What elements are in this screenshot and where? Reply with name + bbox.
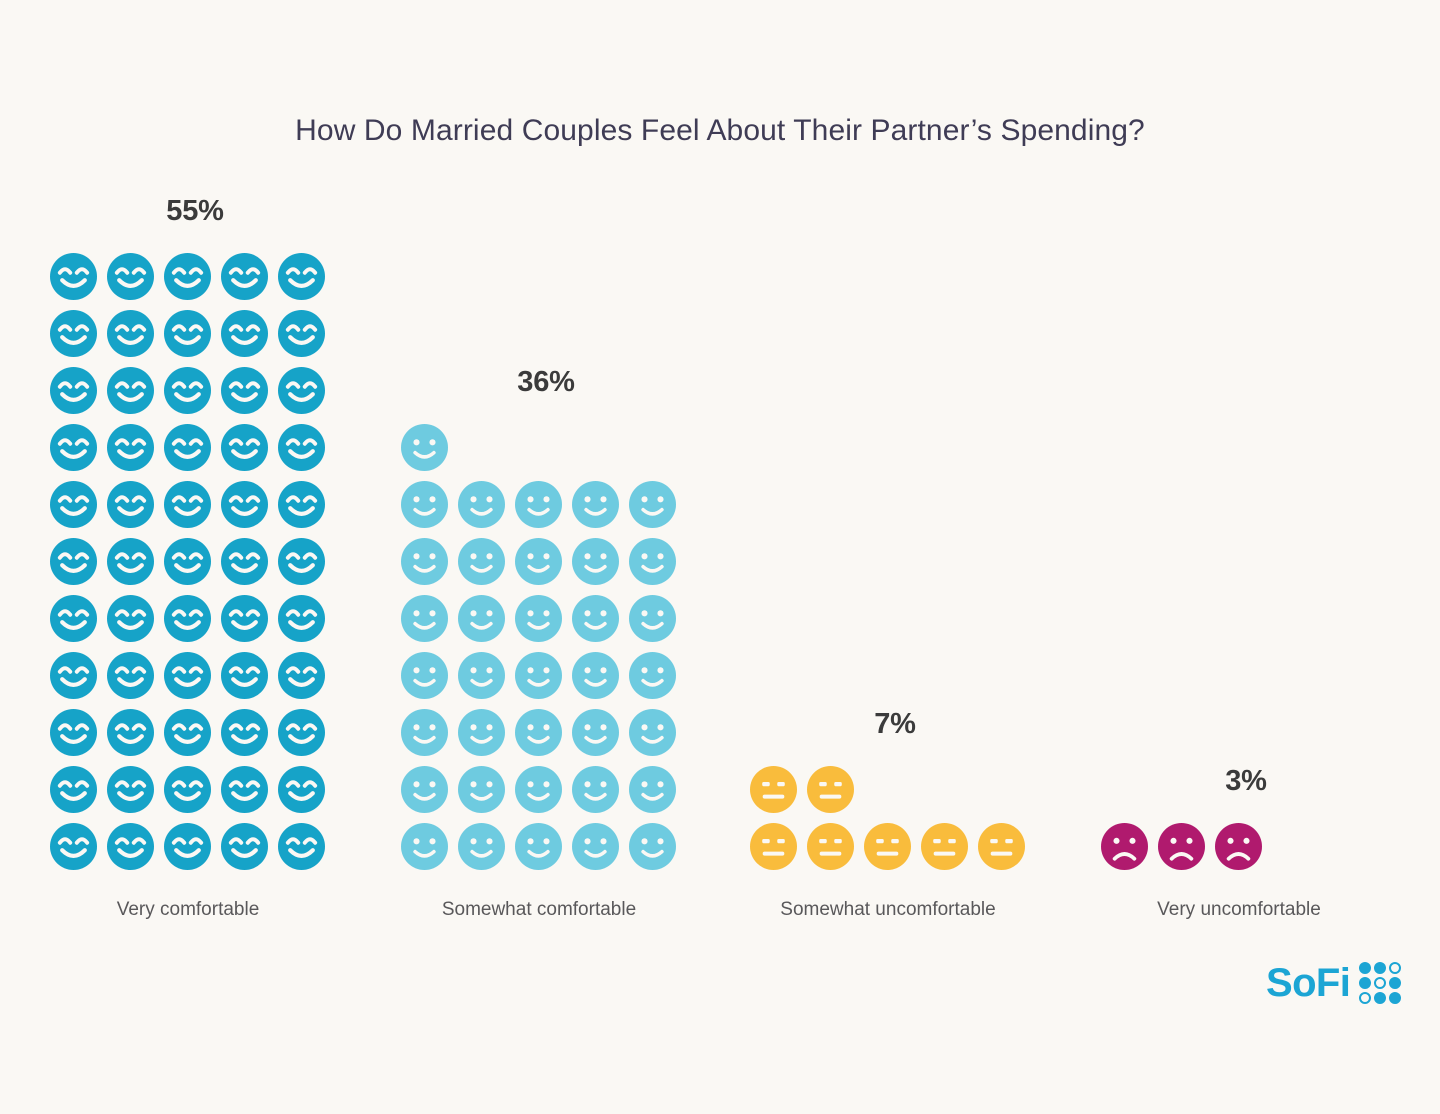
happy-face-icon <box>159 419 216 476</box>
neutral-face-icon <box>859 818 916 875</box>
happy-face-icon <box>102 305 159 362</box>
smiling-face-icon <box>453 533 510 590</box>
sofi-dot-9 <box>1389 992 1401 1004</box>
happy-face-icon <box>102 818 159 875</box>
smiling-face-icon <box>624 647 681 704</box>
happy-face-icon <box>273 305 330 362</box>
smiling-face-icon <box>624 704 681 761</box>
happy-face-icon <box>159 305 216 362</box>
smiling-face-icon <box>567 818 624 875</box>
category-label-somewhat-uncomfortable: Somewhat uncomfortable <box>718 899 1058 921</box>
happy-face-icon <box>159 476 216 533</box>
icon-grid-very-comfortable <box>45 248 345 875</box>
icon-placeholder <box>567 419 624 476</box>
happy-face-icon <box>102 476 159 533</box>
happy-face-icon <box>216 590 273 647</box>
happy-face-icon <box>159 533 216 590</box>
smiling-face-icon <box>567 761 624 818</box>
happy-face-icon <box>159 647 216 704</box>
smiling-face-icon <box>624 476 681 533</box>
happy-face-icon <box>273 476 330 533</box>
happy-face-icon <box>273 419 330 476</box>
icon-placeholder <box>624 419 681 476</box>
smiling-face-icon <box>453 590 510 647</box>
happy-face-icon <box>45 533 102 590</box>
happy-face-icon <box>273 248 330 305</box>
happy-face-icon <box>216 248 273 305</box>
smiling-face-icon <box>453 704 510 761</box>
category-label-very-comfortable: Very comfortable <box>18 899 358 921</box>
smiling-face-icon <box>453 818 510 875</box>
happy-face-icon <box>273 818 330 875</box>
happy-face-icon <box>159 590 216 647</box>
infographic-root: How Do Married Couples Feel About Their … <box>0 0 1440 1114</box>
icon-placeholder <box>1324 818 1381 875</box>
category-label-somewhat-comfortable: Somewhat comfortable <box>369 899 709 921</box>
happy-face-icon <box>102 647 159 704</box>
neutral-face-icon <box>802 818 859 875</box>
sofi-dot-1 <box>1359 962 1371 974</box>
happy-face-icon <box>159 704 216 761</box>
value-label-very-comfortable: 55% <box>45 195 345 228</box>
smiling-face-icon <box>396 818 453 875</box>
category-label-very-uncomfortable: Very uncomfortable <box>1069 899 1409 921</box>
sofi-dot-4 <box>1359 977 1371 989</box>
smiling-face-icon <box>510 761 567 818</box>
happy-face-icon <box>273 533 330 590</box>
smiling-face-icon <box>510 590 567 647</box>
smiling-face-icon <box>510 533 567 590</box>
happy-face-icon <box>159 362 216 419</box>
smiling-face-icon <box>567 533 624 590</box>
smiling-face-icon <box>510 704 567 761</box>
value-label-somewhat-uncomfortable: 7% <box>745 708 1045 741</box>
value-label-very-uncomfortable: 3% <box>1096 765 1396 798</box>
happy-face-icon <box>102 704 159 761</box>
smiling-face-icon <box>567 476 624 533</box>
neutral-face-icon <box>973 818 1030 875</box>
sofi-dot-3 <box>1389 962 1401 974</box>
happy-face-icon <box>45 476 102 533</box>
smiling-face-icon <box>624 818 681 875</box>
smiling-face-icon <box>567 704 624 761</box>
happy-face-icon <box>216 533 273 590</box>
icon-grid-somewhat-comfortable <box>396 419 696 875</box>
smiling-face-icon <box>396 590 453 647</box>
happy-face-icon <box>45 590 102 647</box>
neutral-face-icon <box>745 761 802 818</box>
happy-face-icon <box>216 647 273 704</box>
icon-placeholder <box>859 761 916 818</box>
frowning-face-icon <box>1096 818 1153 875</box>
happy-face-icon <box>102 248 159 305</box>
neutral-face-icon <box>916 818 973 875</box>
happy-face-icon <box>45 362 102 419</box>
icon-placeholder <box>916 761 973 818</box>
smiling-face-icon <box>453 761 510 818</box>
frowning-face-icon <box>1210 818 1267 875</box>
smiling-face-icon <box>453 647 510 704</box>
smiling-face-icon <box>396 761 453 818</box>
happy-face-icon <box>45 704 102 761</box>
smiling-face-icon <box>510 476 567 533</box>
smiling-face-icon <box>396 704 453 761</box>
happy-face-icon <box>45 248 102 305</box>
neutral-face-icon <box>745 818 802 875</box>
happy-face-icon <box>45 419 102 476</box>
frowning-face-icon <box>1153 818 1210 875</box>
happy-face-icon <box>102 362 159 419</box>
smiling-face-icon <box>624 533 681 590</box>
smiling-face-icon <box>510 647 567 704</box>
happy-face-icon <box>102 533 159 590</box>
sofi-wordmark: SoFi <box>1266 963 1350 1003</box>
sofi-dot-8 <box>1374 992 1386 1004</box>
sofi-dot-5 <box>1374 977 1386 989</box>
sofi-dot-6 <box>1389 977 1401 989</box>
happy-face-icon <box>45 305 102 362</box>
happy-face-icon <box>102 419 159 476</box>
happy-face-icon <box>45 818 102 875</box>
icon-placeholder <box>510 419 567 476</box>
smiling-face-icon <box>396 533 453 590</box>
smiling-face-icon <box>396 419 453 476</box>
sofi-dot-7 <box>1359 992 1371 1004</box>
icon-grid-very-uncomfortable <box>1096 818 1396 875</box>
happy-face-icon <box>102 590 159 647</box>
smiling-face-icon <box>624 590 681 647</box>
happy-face-icon <box>216 305 273 362</box>
smiling-face-icon <box>510 818 567 875</box>
happy-face-icon <box>273 704 330 761</box>
icon-placeholder <box>453 419 510 476</box>
happy-face-icon <box>216 761 273 818</box>
smiling-face-icon <box>567 590 624 647</box>
happy-face-icon <box>45 761 102 818</box>
happy-face-icon <box>273 590 330 647</box>
happy-face-icon <box>159 818 216 875</box>
neutral-face-icon <box>802 761 859 818</box>
happy-face-icon <box>216 704 273 761</box>
happy-face-icon <box>45 647 102 704</box>
pictogram-chart: 55%Very comfortable36%Somewhat comfortab… <box>0 0 1440 1114</box>
happy-face-icon <box>216 476 273 533</box>
happy-face-icon <box>273 647 330 704</box>
sofi-dot-grid-icon <box>1359 962 1401 1004</box>
smiling-face-icon <box>624 761 681 818</box>
smiling-face-icon <box>453 476 510 533</box>
happy-face-icon <box>102 761 159 818</box>
happy-face-icon <box>216 362 273 419</box>
happy-face-icon <box>216 419 273 476</box>
happy-face-icon <box>159 248 216 305</box>
smiling-face-icon <box>396 476 453 533</box>
sofi-logo: SoFi <box>1266 962 1401 1004</box>
icon-placeholder <box>973 761 1030 818</box>
happy-face-icon <box>273 761 330 818</box>
sofi-dot-2 <box>1374 962 1386 974</box>
smiling-face-icon <box>396 647 453 704</box>
happy-face-icon <box>159 761 216 818</box>
icon-placeholder <box>1267 818 1324 875</box>
happy-face-icon <box>273 362 330 419</box>
value-label-somewhat-comfortable: 36% <box>396 366 696 399</box>
icon-grid-somewhat-uncomfortable <box>745 761 1045 875</box>
happy-face-icon <box>216 818 273 875</box>
smiling-face-icon <box>567 647 624 704</box>
